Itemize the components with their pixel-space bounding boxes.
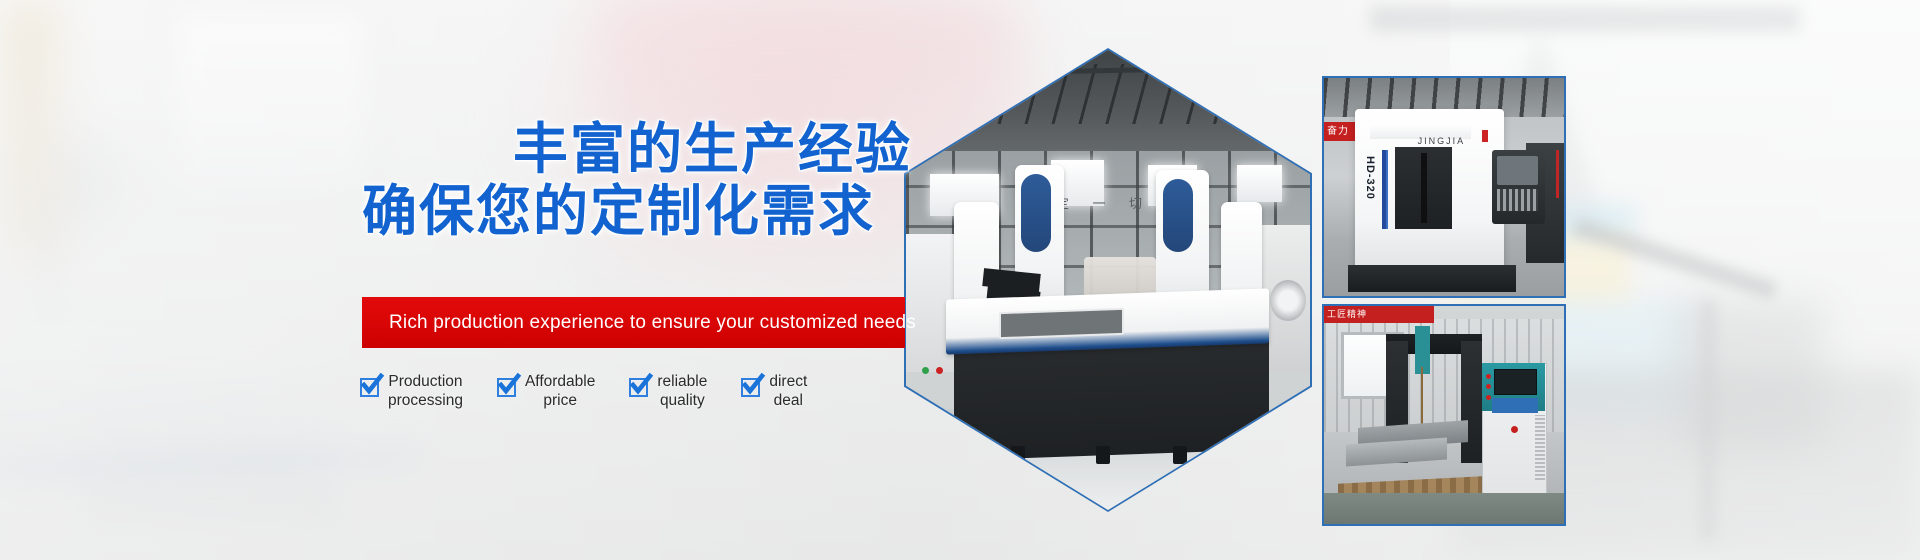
- t1-red-stripe: [1556, 150, 1559, 198]
- headline-block: 丰富的生产经验 确保您的定制化需求: [362, 118, 922, 242]
- hero-foot: [1173, 446, 1187, 464]
- hero-base-hole: [983, 441, 995, 455]
- feature-label-line-1: Affordable: [525, 372, 595, 391]
- hero-control-panel: [1021, 174, 1051, 252]
- hero-wall-sign: 定 一 切: [1051, 193, 1156, 221]
- checkbox-checked-icon: [497, 378, 516, 397]
- feature-item: reliable quality: [629, 372, 707, 410]
- feature-label-line-2: price: [525, 391, 595, 410]
- feature-label-line-2: processing: [388, 391, 463, 410]
- feature-item: direct deal: [741, 372, 807, 410]
- t1-machine-door: [1395, 147, 1452, 230]
- feature-list: Production processing Affordable price: [360, 372, 920, 428]
- hero-foot: [1096, 446, 1110, 464]
- hero-window: [1237, 165, 1281, 202]
- hero-green-button: [922, 367, 929, 374]
- t2-control-strip: [1492, 398, 1538, 413]
- feature-label: direct deal: [769, 372, 807, 410]
- feature-label: Production processing: [388, 372, 463, 410]
- t2-lamp: [1486, 374, 1491, 379]
- feature-label: reliable quality: [657, 372, 707, 410]
- hero-reel: [1270, 280, 1306, 321]
- thumbnail-stack: 奋力 JINGJIA HD-320: [1322, 76, 1562, 526]
- thumbnail-hd320: 奋力 JINGJIA HD-320: [1322, 76, 1566, 298]
- feature-label: Affordable price: [525, 372, 595, 410]
- t2-floor: [1324, 493, 1564, 524]
- t2-column: [1461, 341, 1483, 463]
- checkbox-checked-icon: [360, 378, 379, 397]
- subtitle-bar: Rich production experience to ensure you…: [362, 297, 905, 348]
- hero-hexagon: 定 一 切: [904, 48, 1312, 512]
- hero-control-panel: [1163, 179, 1193, 253]
- t1-model-label: HD-320: [1364, 156, 1376, 200]
- t1-blue-stripe-2: [1386, 150, 1388, 230]
- checkbox-checked-icon: [741, 378, 760, 397]
- page-title: 丰富的生产经验 确保您的定制化需求: [362, 118, 922, 242]
- feature-label-line-1: direct: [769, 372, 807, 391]
- headline-line-1: 丰富的生产经验: [362, 118, 922, 180]
- feature-label-line-2: quality: [657, 391, 707, 410]
- subtitle-text: Rich production experience to ensure you…: [362, 312, 916, 334]
- t1-cnc-keypad: [1497, 189, 1538, 211]
- feature-label-line-1: Production: [388, 372, 463, 391]
- hexagon-photo: 定 一 切: [906, 50, 1310, 510]
- promo-banner: 丰富的生产经验 确保您的定制化需求 Rich production experi…: [0, 0, 1920, 560]
- t2-wall-banner: 工匠精神: [1324, 306, 1434, 323]
- feature-label-line-1: reliable: [657, 372, 707, 391]
- feature-item: Production processing: [360, 372, 463, 410]
- feature-item: Affordable price: [497, 372, 595, 410]
- headline-line-2: 确保您的定制化需求: [362, 180, 922, 242]
- t2-screen: [1494, 369, 1537, 395]
- t1-machine-plinth: [1348, 265, 1516, 291]
- thumbnail-boring-machine: 工匠精神: [1322, 304, 1566, 526]
- t2-vent: [1535, 415, 1545, 480]
- t2-banner-text: 工匠精神: [1324, 306, 1434, 323]
- hero-bed-window: [999, 308, 1124, 339]
- t1-cnc-screen: [1497, 156, 1538, 184]
- feature-label-line-2: deal: [769, 391, 807, 410]
- t1-brand-label: JINGJIA: [1418, 136, 1466, 146]
- checkbox-checked-icon: [629, 378, 648, 397]
- hero-red-button: [936, 367, 943, 374]
- t1-red-lamp: [1482, 130, 1488, 142]
